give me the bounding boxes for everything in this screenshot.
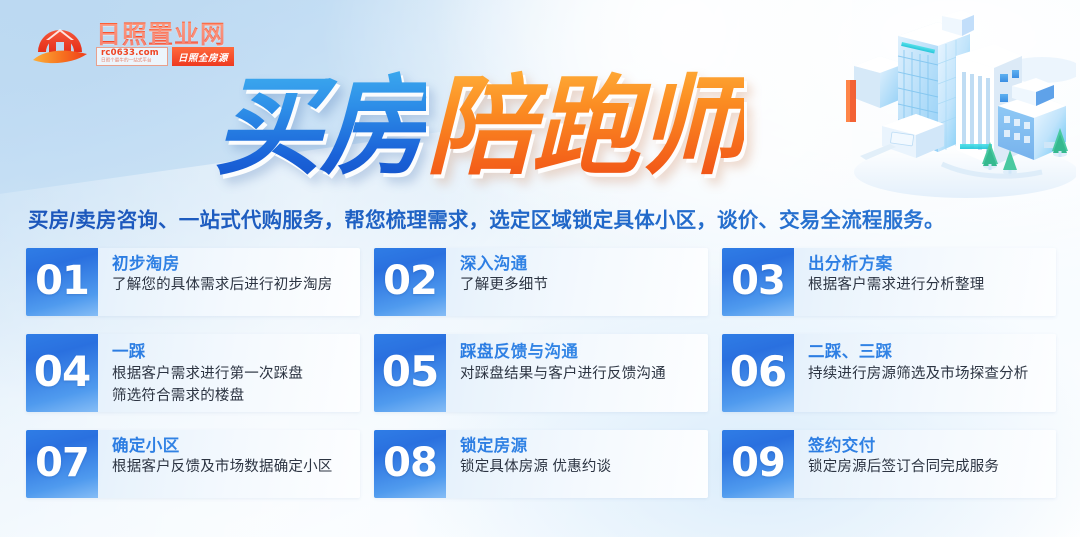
- logo-domain-text: rc0633.com: [101, 49, 163, 58]
- step-body: 签约交付 锁定房源后签订合同完成服务: [794, 430, 1056, 498]
- step-title: 锁定房源: [460, 436, 708, 457]
- step-card-02[interactable]: 02 深入沟通 了解更多细节: [374, 248, 708, 316]
- step-number: 04: [34, 351, 90, 393]
- step-desc-line: 锁定房源后签订合同完成服务: [808, 457, 1056, 478]
- step-body: 二踩、三踩 持续进行房源筛选及市场探查分析: [794, 334, 1056, 412]
- step-desc-line: 了解您的具体需求后进行初步淘房: [112, 275, 360, 296]
- step-title: 踩盘反馈与沟通: [460, 342, 708, 363]
- step-card-09[interactable]: 09 签约交付 锁定房源后签订合同完成服务: [722, 430, 1056, 498]
- logo-subline: rc0633.com 日照个最牛的一站式平台 日照全房源: [96, 47, 234, 66]
- step-card-07[interactable]: 07 确定小区 根据客户反馈及市场数据确定小区: [26, 430, 360, 498]
- step-number: 07: [35, 443, 89, 483]
- step-number: 03: [731, 261, 785, 301]
- step-title: 二踩、三踩: [808, 342, 1056, 363]
- step-number-badge: 05: [374, 334, 446, 412]
- step-number: 08: [383, 443, 437, 483]
- step-card-08[interactable]: 08 锁定房源 锁定具体房源 优惠约谈: [374, 430, 708, 498]
- logo-domain-box: rc0633.com 日照个最牛的一站式平台: [96, 47, 168, 66]
- step-title: 一踩: [112, 342, 360, 363]
- step-number-badge: 04: [26, 334, 98, 412]
- step-title: 出分析方案: [808, 254, 1056, 275]
- step-title: 深入沟通: [460, 254, 708, 275]
- step-number: 06: [730, 351, 786, 393]
- logo-wordmark: 日照置业网: [96, 15, 226, 51]
- subtitle: 买房/卖房咨询、一站式代购服务，帮您梳理需求，选定区域锁定具体小区，谈价、交易全…: [28, 206, 1062, 236]
- step-title: 初步淘房: [112, 254, 360, 275]
- step-body: 一踩 根据客户需求进行第一次踩盘 筛选符合需求的楼盘: [98, 334, 360, 412]
- step-body: 深入沟通 了解更多细节: [446, 248, 708, 316]
- site-logo[interactable]: 日照置业网 rc0633.com 日照个最牛的一站式平台 日照全房源: [30, 16, 235, 70]
- step-desc-line: 锁定具体房源 优惠约谈: [460, 457, 708, 478]
- step-desc-line: 了解更多细节: [460, 275, 708, 296]
- step-number-badge: 07: [26, 430, 98, 498]
- step-desc-line: 根据客户需求进行分析整理: [808, 275, 1056, 296]
- step-number: 09: [731, 443, 785, 483]
- step-card-06[interactable]: 06 二踩、三踩 持续进行房源筛选及市场探查分析: [722, 334, 1056, 412]
- step-desc-line: 根据客户反馈及市场数据确定小区: [112, 457, 360, 478]
- step-number-badge: 03: [722, 248, 794, 316]
- step-number: 05: [382, 351, 438, 393]
- banner-canvas: 日照置业网 rc0633.com 日照个最牛的一站式平台 日照全房源: [0, 0, 1080, 537]
- step-title: 签约交付: [808, 436, 1056, 457]
- step-number-badge: 08: [374, 430, 446, 498]
- step-body: 出分析方案 根据客户需求进行分析整理: [794, 248, 1056, 316]
- step-number-badge: 06: [722, 334, 794, 412]
- step-title: 确定小区: [112, 436, 360, 457]
- step-desc-line: 根据客户需求进行第一次踩盘: [112, 363, 360, 385]
- house-arch-icon: [30, 18, 90, 68]
- step-body: 确定小区 根据客户反馈及市场数据确定小区: [98, 430, 360, 498]
- page-title-part-orange: 陪跑师: [426, 65, 744, 190]
- step-number-badge: 01: [26, 248, 98, 316]
- step-desc-line: 对踩盘结果与客户进行反馈沟通: [460, 363, 708, 385]
- page-title: 买房陪跑师: [214, 66, 904, 190]
- step-grid: 01 初步淘房 了解您的具体需求后进行初步淘房 02 深入沟通 了解更多细节 0…: [26, 248, 1056, 498]
- step-card-01[interactable]: 01 初步淘房 了解您的具体需求后进行初步淘房: [26, 248, 360, 316]
- logo-tagline-text: 日照个最牛的一站式平台: [101, 58, 158, 64]
- step-card-05[interactable]: 05 踩盘反馈与沟通 对踩盘结果与客户进行反馈沟通: [374, 334, 708, 412]
- step-number-badge: 09: [722, 430, 794, 498]
- step-number: 02: [383, 261, 437, 301]
- step-body: 踩盘反馈与沟通 对踩盘结果与客户进行反馈沟通: [446, 334, 708, 412]
- step-desc-line: 持续进行房源筛选及市场探查分析: [808, 363, 1056, 385]
- step-body: 初步淘房 了解您的具体需求后进行初步淘房: [98, 248, 360, 316]
- step-number-badge: 02: [374, 248, 446, 316]
- step-card-04[interactable]: 04 一踩 根据客户需求进行第一次踩盘 筛选符合需求的楼盘: [26, 334, 360, 412]
- step-body: 锁定房源 锁定具体房源 优惠约谈: [446, 430, 708, 498]
- step-card-03[interactable]: 03 出分析方案 根据客户需求进行分析整理: [722, 248, 1056, 316]
- step-desc-line: 筛选符合需求的楼盘: [112, 385, 360, 407]
- logo-badge: 日照全房源: [172, 47, 234, 66]
- step-number: 01: [35, 261, 89, 301]
- page-title-part-blue: 买房: [214, 65, 426, 190]
